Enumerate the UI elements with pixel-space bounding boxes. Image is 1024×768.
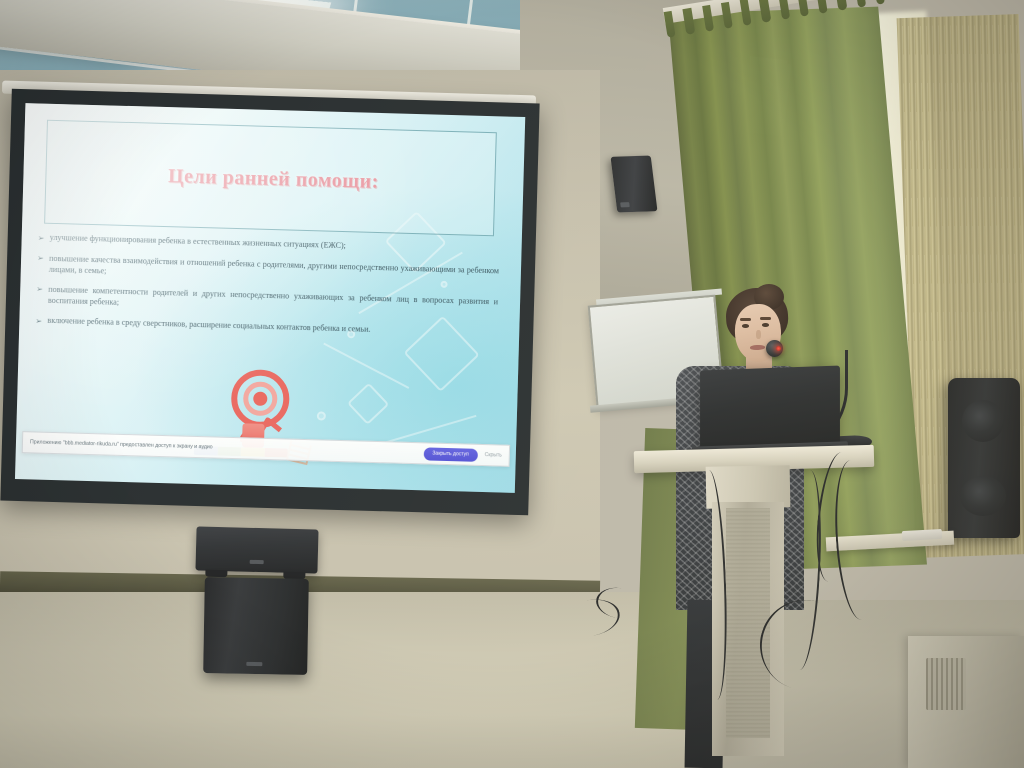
bullet-arrow-icon: ➢	[36, 283, 49, 306]
speaker-cone	[960, 476, 1006, 516]
bullet-arrow-icon: ➢	[35, 315, 47, 327]
projection-screen: Цели ранней помощи: ➢ улучшение функцион…	[0, 89, 539, 516]
room-scene: Цели ранней помощи: ➢ улучшение функцион…	[0, 0, 1024, 768]
decor-line	[323, 343, 409, 389]
stop-sharing-button[interactable]: Закрыть доступ	[423, 447, 478, 462]
bullet-text: повышение компетентности родителей и дру…	[48, 284, 498, 319]
brand-logo	[246, 662, 262, 666]
presenter-eyebrow	[740, 318, 751, 321]
presenter-nose	[756, 330, 761, 339]
bullet-text: включение ребенка в среду сверстников, р…	[47, 315, 497, 339]
presenter-eye	[762, 323, 769, 327]
slide-bullet-list: ➢ улучшение функционирования ребенка в е…	[35, 231, 500, 348]
list-item: ➢ повышение качества взаимодействия и от…	[37, 252, 499, 287]
wall-speaker-right	[948, 378, 1020, 538]
microphone-led	[776, 346, 781, 351]
hide-notification-button[interactable]: Скрыть	[485, 452, 502, 458]
bullet-text: повышение качества взаимодействия и отно…	[49, 252, 499, 287]
cabinet-vent	[926, 658, 966, 710]
podium-panel	[726, 508, 770, 738]
floor-cabinet	[908, 636, 1024, 768]
decor-diamond	[347, 383, 389, 425]
decor-dot	[317, 411, 326, 420]
presentation-slide: Цели ранней помощи: ➢ улучшение функцион…	[15, 103, 525, 493]
notification-message: Приложению "bbb.mediator-rikuda.ru" пред…	[30, 439, 424, 456]
list-item: ➢ включение ребенка в среду сверстников,…	[35, 315, 497, 339]
bullet-arrow-icon: ➢	[37, 252, 50, 275]
shelf-object	[902, 529, 942, 541]
presenter-eyebrow	[760, 317, 771, 320]
speaker-cone	[962, 400, 1004, 442]
subwoofer-cabinet	[203, 577, 309, 675]
list-item: ➢ повышение компетентности родителей и д…	[36, 283, 498, 318]
wall-speaker-icon	[611, 156, 658, 213]
bullet-arrow-icon: ➢	[38, 231, 50, 243]
audio-amplifier	[195, 526, 318, 573]
presenter-laptop[interactable]	[700, 366, 840, 453]
presenter-eye	[742, 324, 749, 328]
amp-indicator	[250, 560, 264, 564]
